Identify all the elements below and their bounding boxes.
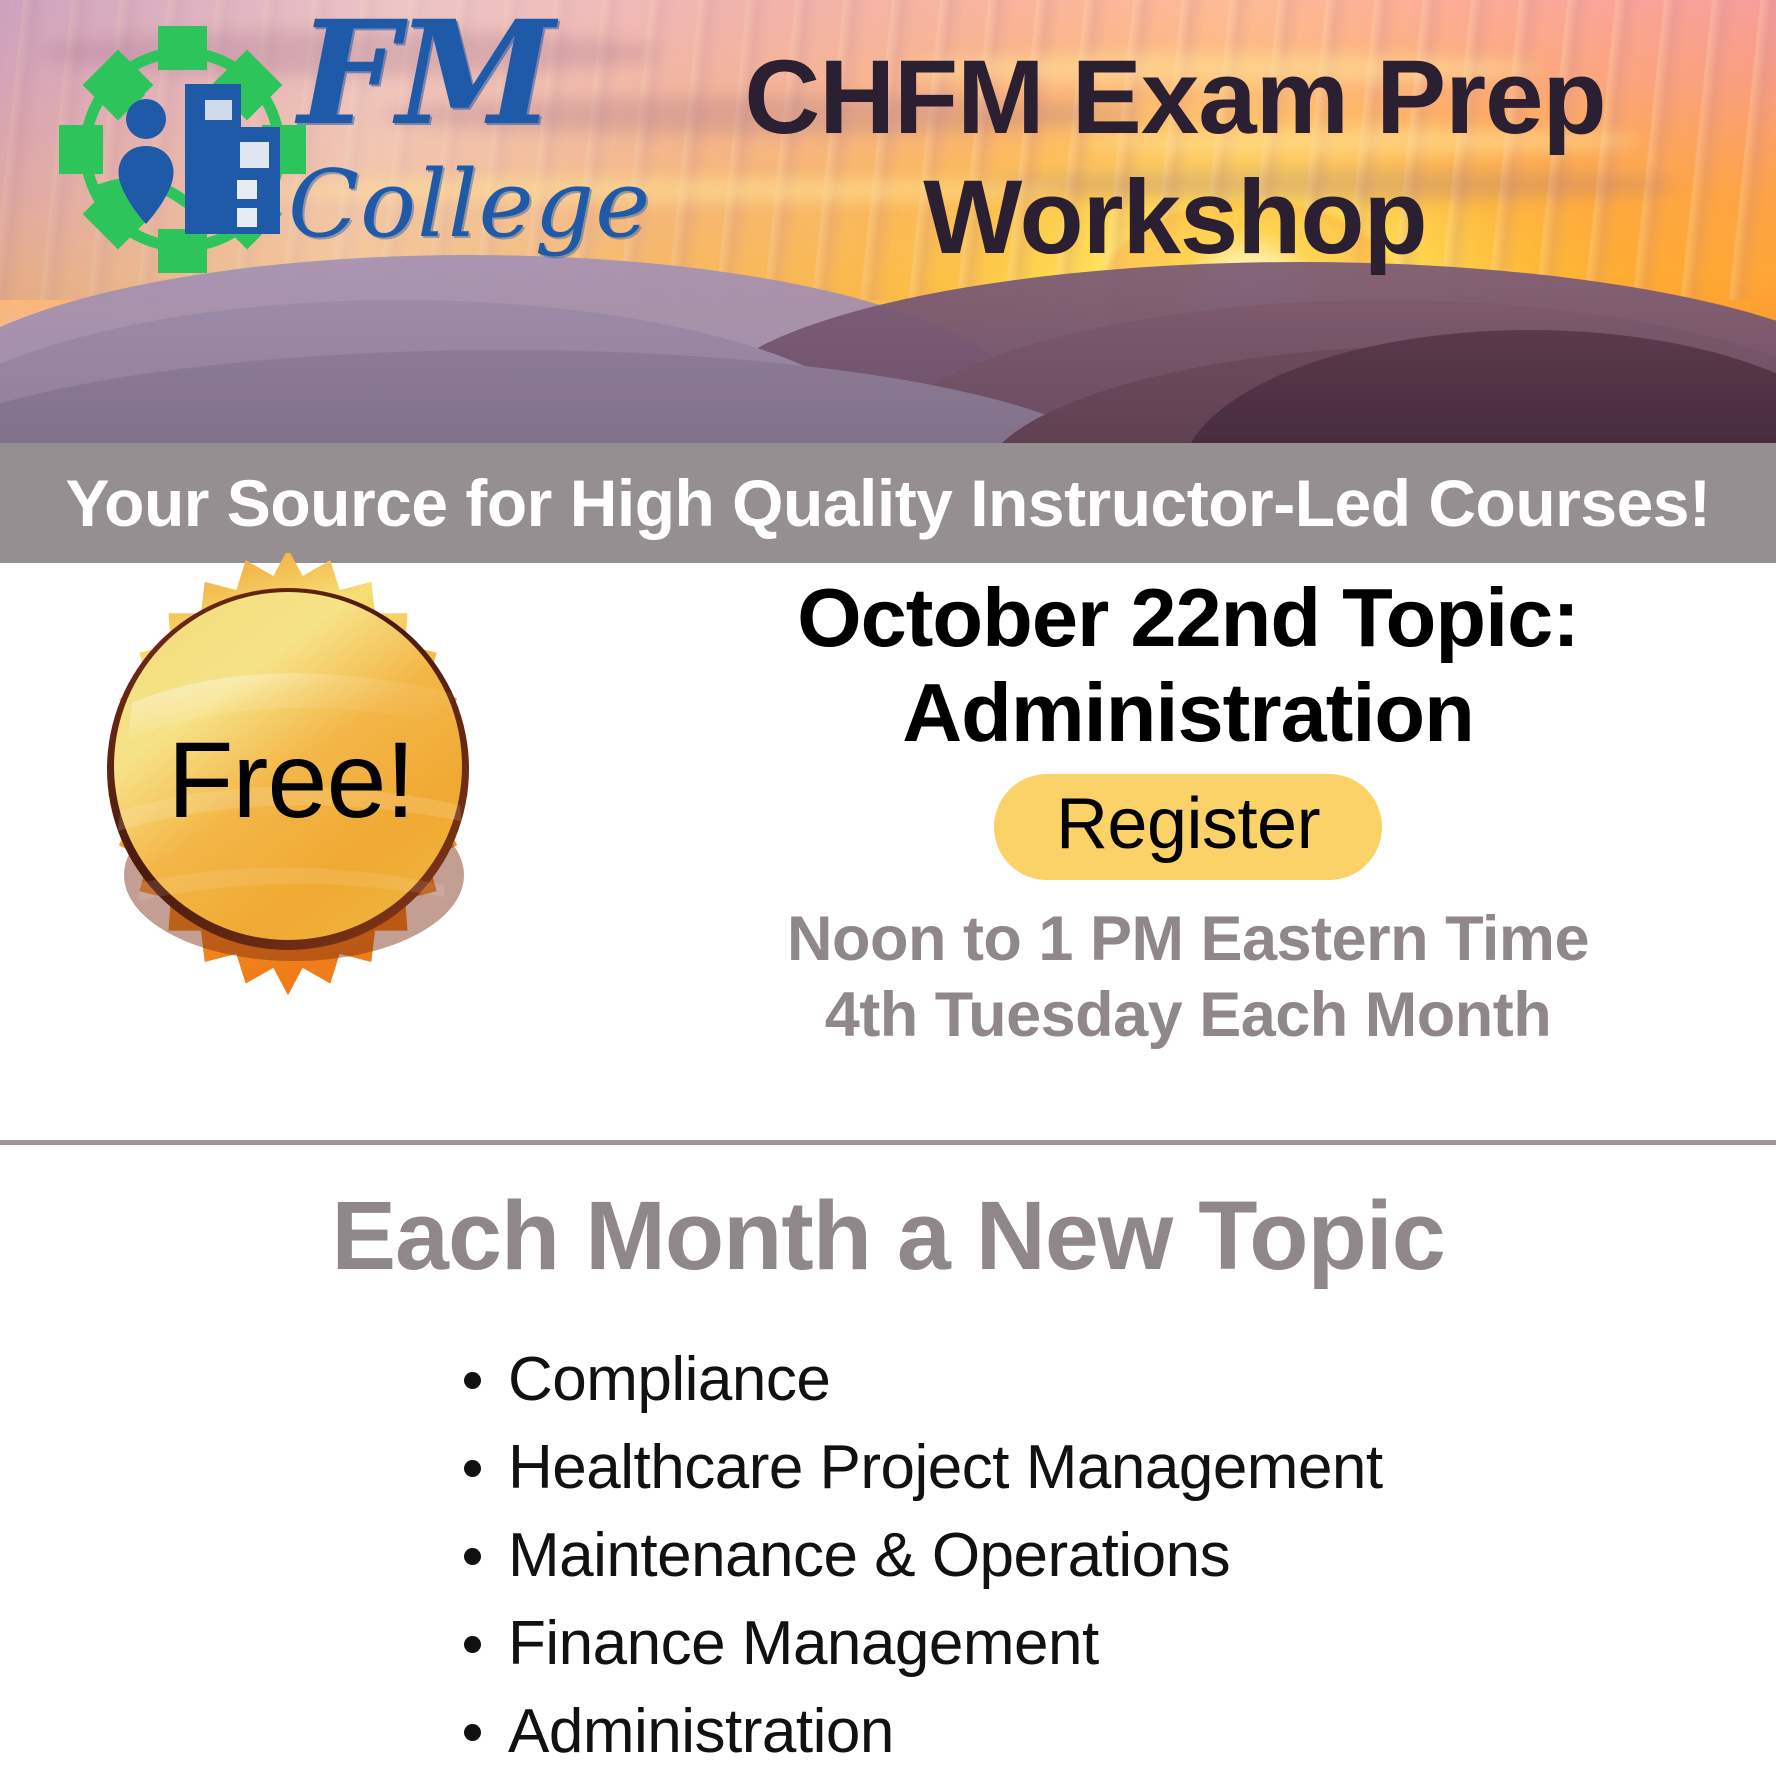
promo-poster: FM College CHFM Exam Prep Workshop Your …: [0, 0, 1776, 1776]
bullet-icon: [464, 1724, 481, 1741]
offer-section: Free! October 22nd Topic: Administration…: [0, 563, 1776, 1143]
wordmark-fm: FM: [298, 2, 552, 145]
list-item: Maintenance & Operations: [0, 1512, 1776, 1600]
current-topic-name: Administration: [600, 666, 1776, 761]
bullet-icon: [464, 1460, 481, 1477]
bullet-icon: [464, 1372, 481, 1389]
list-item: Healthcare Project Management: [0, 1424, 1776, 1512]
topics-list: Compliance Healthcare Project Management…: [0, 1336, 1776, 1776]
schedule-time: Noon to 1 PM Eastern Time: [600, 902, 1776, 978]
list-item-label: Finance Management: [508, 1609, 1099, 1678]
free-badge-label: Free!: [62, 553, 514, 1005]
current-topic-heading: October 22nd Topic: Administration: [600, 571, 1776, 760]
list-item-label: Compliance: [508, 1345, 830, 1414]
list-item: Administration: [0, 1688, 1776, 1776]
page-title-line2: Workshop: [600, 158, 1750, 278]
offer-details: October 22nd Topic: Administration Regis…: [600, 563, 1776, 1053]
wordmark-college: College: [288, 158, 651, 251]
page-title: CHFM Exam Prep Workshop: [600, 38, 1750, 277]
list-item-label: Healthcare Project Management: [508, 1433, 1383, 1502]
fm-college-wordmark: FM College: [288, 10, 628, 280]
tagline-text: Your Source for High Quality Instructor-…: [66, 465, 1711, 541]
schedule-info: Noon to 1 PM Eastern Time 4th Tuesday Ea…: [600, 902, 1776, 1053]
free-badge: Free!: [62, 553, 514, 1005]
topics-heading: Each Month a New Topic: [0, 1183, 1776, 1290]
list-item-label: Administration: [508, 1697, 894, 1766]
list-item-label: Maintenance & Operations: [508, 1521, 1230, 1590]
page-title-line1: CHFM Exam Prep: [600, 38, 1750, 158]
fm-college-gear-icon: [55, 22, 310, 277]
topics-section: Each Month a New Topic Compliance Health…: [0, 1145, 1776, 1776]
list-item: Finance Management: [0, 1600, 1776, 1688]
current-topic-date: October 22nd Topic:: [600, 571, 1776, 666]
register-button-wrap: Register: [600, 774, 1776, 880]
bullet-icon: [464, 1548, 481, 1565]
hero-banner: FM College CHFM Exam Prep Workshop: [0, 0, 1776, 443]
register-button[interactable]: Register: [994, 774, 1382, 880]
bullet-icon: [464, 1636, 481, 1653]
tagline-banner: Your Source for High Quality Instructor-…: [0, 443, 1776, 563]
list-item: Compliance: [0, 1336, 1776, 1424]
schedule-recurrence: 4th Tuesday Each Month: [600, 978, 1776, 1054]
